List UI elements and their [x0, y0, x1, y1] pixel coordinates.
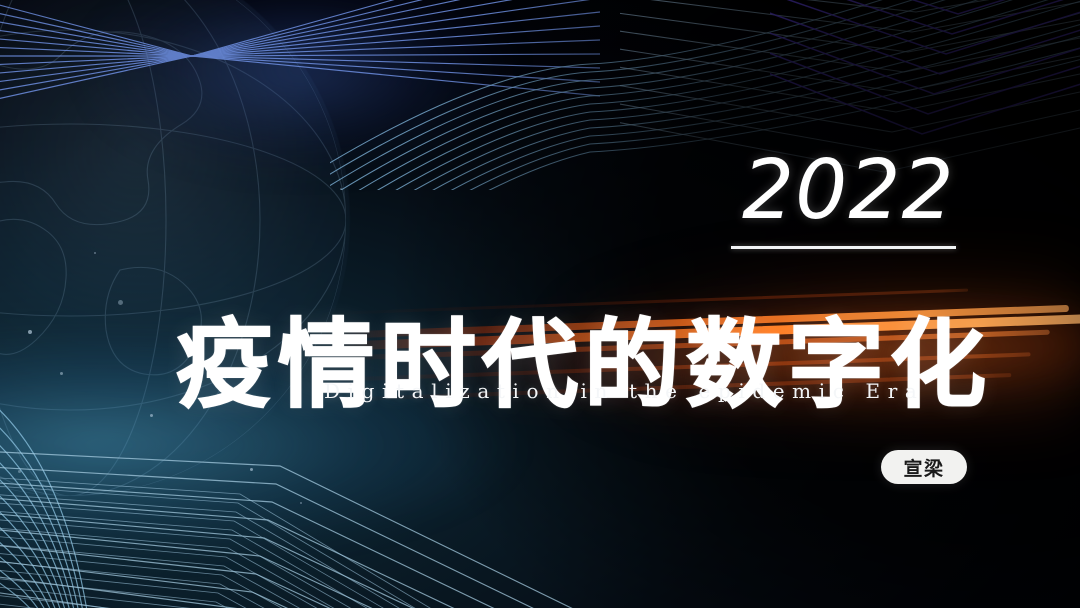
- slide-content: 2022 疫情时代的数字化 Digitalization in the epid…: [0, 0, 1080, 608]
- year-divider-rule: [731, 246, 956, 249]
- author-badge-label: 宣梁: [903, 454, 944, 481]
- presentation-title-slide: 2022 疫情时代的数字化 Digitalization in the epid…: [0, 0, 1080, 608]
- author-badge: 宣梁: [881, 450, 967, 484]
- subtitle: Digitalization in the epidemic Era: [324, 381, 924, 401]
- year-label: 2022: [742, 150, 955, 232]
